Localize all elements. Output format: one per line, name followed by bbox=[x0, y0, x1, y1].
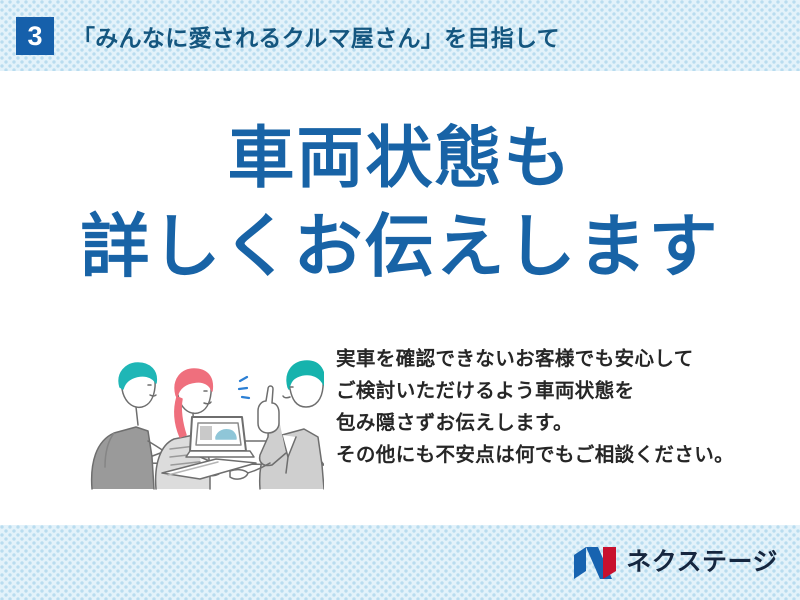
body-copy-line-3: 包み隠さずお伝えします。 bbox=[336, 407, 786, 439]
laptop-screen bbox=[186, 417, 254, 457]
headline-line-2: 詳しくお伝えします bbox=[0, 206, 800, 287]
brand-logo: ネクステージ bbox=[573, 525, 778, 600]
header-title: 「みんなに愛されるクルマ屋さん」を目指して bbox=[72, 19, 560, 53]
slide-page: 3 「みんなに愛されるクルマ屋さん」を目指して 車両状態も 詳しくお伝えします bbox=[0, 0, 800, 600]
main-content: 車両状態も 詳しくお伝えします bbox=[0, 71, 800, 525]
step-number-badge: 3 bbox=[16, 17, 54, 55]
footer-band: ネクステージ bbox=[0, 525, 800, 600]
consultation-illustration bbox=[74, 345, 324, 491]
content-row: 実車を確認できないお客様でも安心して ご検討いただけるよう車両状態を 包み隠さず… bbox=[0, 343, 800, 503]
nexstage-n-icon bbox=[573, 546, 617, 580]
body-copy-line-2: ご検討いただけるよう車両状態を bbox=[336, 375, 786, 407]
brand-name: ネクステージ bbox=[626, 550, 778, 575]
emphasis-marks bbox=[239, 377, 249, 398]
body-copy-line-1: 実車を確認できないお客様でも安心して bbox=[336, 343, 786, 375]
staff-person bbox=[230, 361, 324, 489]
headline: 車両状態も 詳しくお伝えします bbox=[0, 119, 800, 287]
body-copy-line-4: その他にも不安点は何でもご相談ください。 bbox=[336, 439, 786, 471]
headline-line-1: 車両状態も bbox=[0, 119, 800, 198]
header-band: 3 「みんなに愛されるクルマ屋さん」を目指して bbox=[0, 0, 800, 71]
header-content: 3 「みんなに愛されるクルマ屋さん」を目指して bbox=[0, 0, 800, 71]
body-copy: 実車を確認できないお客様でも安心して ご検討いただけるよう車両状態を 包み隠さず… bbox=[336, 343, 786, 471]
